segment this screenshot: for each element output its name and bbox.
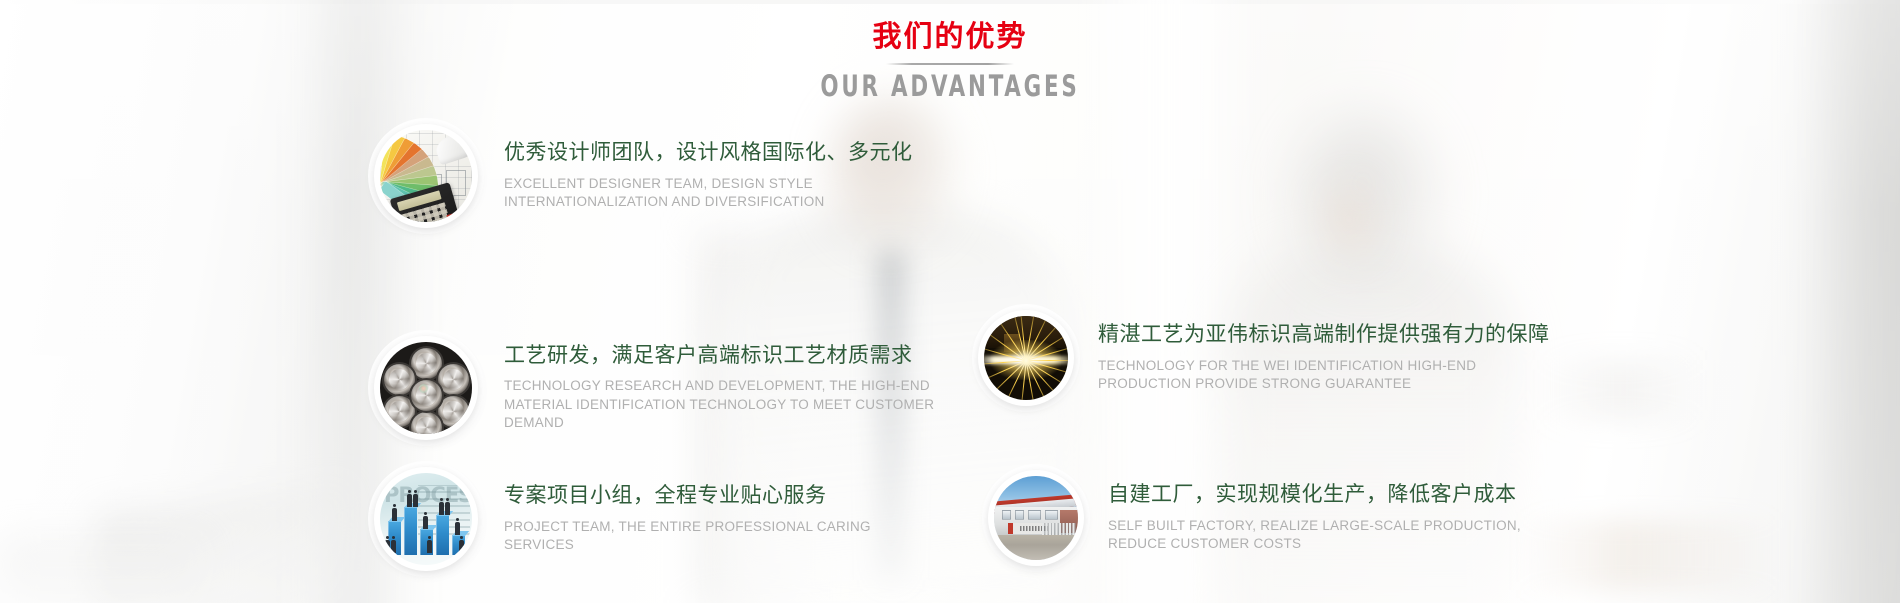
background-cool-blur: [1540, 360, 1700, 420]
background-desk-edge: [0, 540, 200, 603]
advantage-text-block: 专案项目小组，全程专业贴心服务 PROJECT TEAM, THE ENTIRE…: [504, 483, 944, 555]
advantage-thumbnail[interactable]: [978, 310, 1074, 406]
laser-cutting-sparks-icon: [984, 316, 1068, 400]
advantage-title: 工艺研发，满足客户高端标识工艺材质需求: [504, 343, 944, 369]
advantage-title: 专案项目小组，全程专业贴心服务: [504, 483, 944, 509]
color-swatch-blueprint-icon: [380, 130, 472, 222]
page-title-en: OUR ADVANTAGES: [171, 69, 1729, 103]
advantage-title: 优秀设计师团队，设计风格国际化、多元化: [504, 140, 944, 166]
advantage-caption: SELF BUILT FACTORY, REALIZE LARGE-SCALE …: [1108, 517, 1538, 554]
advantage-text-block: 优秀设计师团队，设计风格国际化、多元化 EXCELLENT DESIGNER T…: [504, 140, 944, 212]
page-title-cn: 我们的优势: [0, 22, 1900, 54]
advantage-thumbnail[interactable]: [374, 124, 478, 228]
background-warm-blur: [1520, 520, 1780, 590]
advantage-text-block: 自建工厂，实现规模化生产，降低客户成本 SELF BUILT FACTORY, …: [1108, 482, 1538, 554]
advantage-item-own-factory[interactable]: 自建工厂，实现规模化生产，降低客户成本 SELF BUILT FACTORY, …: [988, 470, 1538, 566]
advantages-banner: 我们的优势 OUR ADVANTAGES: [0, 0, 1900, 603]
business-chart-people-icon: PROCESS: [380, 473, 472, 565]
advantage-caption: EXCELLENT DESIGNER TEAM, DESIGN STYLE IN…: [504, 175, 944, 212]
factory-building-icon: [994, 476, 1078, 560]
advantage-caption: TECHNOLOGY FOR THE WEI IDENTIFICATION HI…: [1098, 357, 1528, 394]
advantage-title: 精湛工艺为亚伟标识高端制作提供强有力的保障: [1098, 322, 1550, 348]
advantage-caption: TECHNOLOGY RESEARCH AND DEVELOPMENT, THE…: [504, 377, 944, 433]
header-divider: [886, 63, 1014, 65]
advantage-item-technology-rnd[interactable]: 工艺研发，满足客户高端标识工艺材质需求 TECHNOLOGY RESEARCH …: [374, 336, 944, 440]
advantage-text-block: 工艺研发，满足客户高端标识工艺材质需求 TECHNOLOGY RESEARCH …: [504, 343, 944, 433]
metal-tubes-icon: [380, 342, 472, 434]
advantage-thumbnail[interactable]: [988, 470, 1084, 566]
background-person-two-face: [1318, 176, 1380, 262]
advantage-thumbnail[interactable]: PROCESS: [374, 467, 478, 571]
advantage-item-craftsmanship[interactable]: 精湛工艺为亚伟标识高端制作提供强有力的保障 TECHNOLOGY FOR THE…: [978, 310, 1550, 406]
section-header: 我们的优势 OUR ADVANTAGES: [0, 22, 1900, 103]
advantage-text-block: 精湛工艺为亚伟标识高端制作提供强有力的保障 TECHNOLOGY FOR THE…: [1098, 322, 1550, 394]
advantage-caption: PROJECT TEAM, THE ENTIRE PROFESSIONAL CA…: [504, 518, 944, 555]
advantage-item-project-team[interactable]: PROCESS: [374, 467, 944, 571]
advantage-item-designer-team[interactable]: 优秀设计师团队，设计风格国际化、多元化 EXCELLENT DESIGNER T…: [374, 124, 944, 228]
advantage-thumbnail[interactable]: [374, 336, 478, 440]
background-top-seam: [0, 0, 1900, 4]
advantage-title: 自建工厂，实现规模化生产，降低客户成本: [1108, 482, 1538, 508]
